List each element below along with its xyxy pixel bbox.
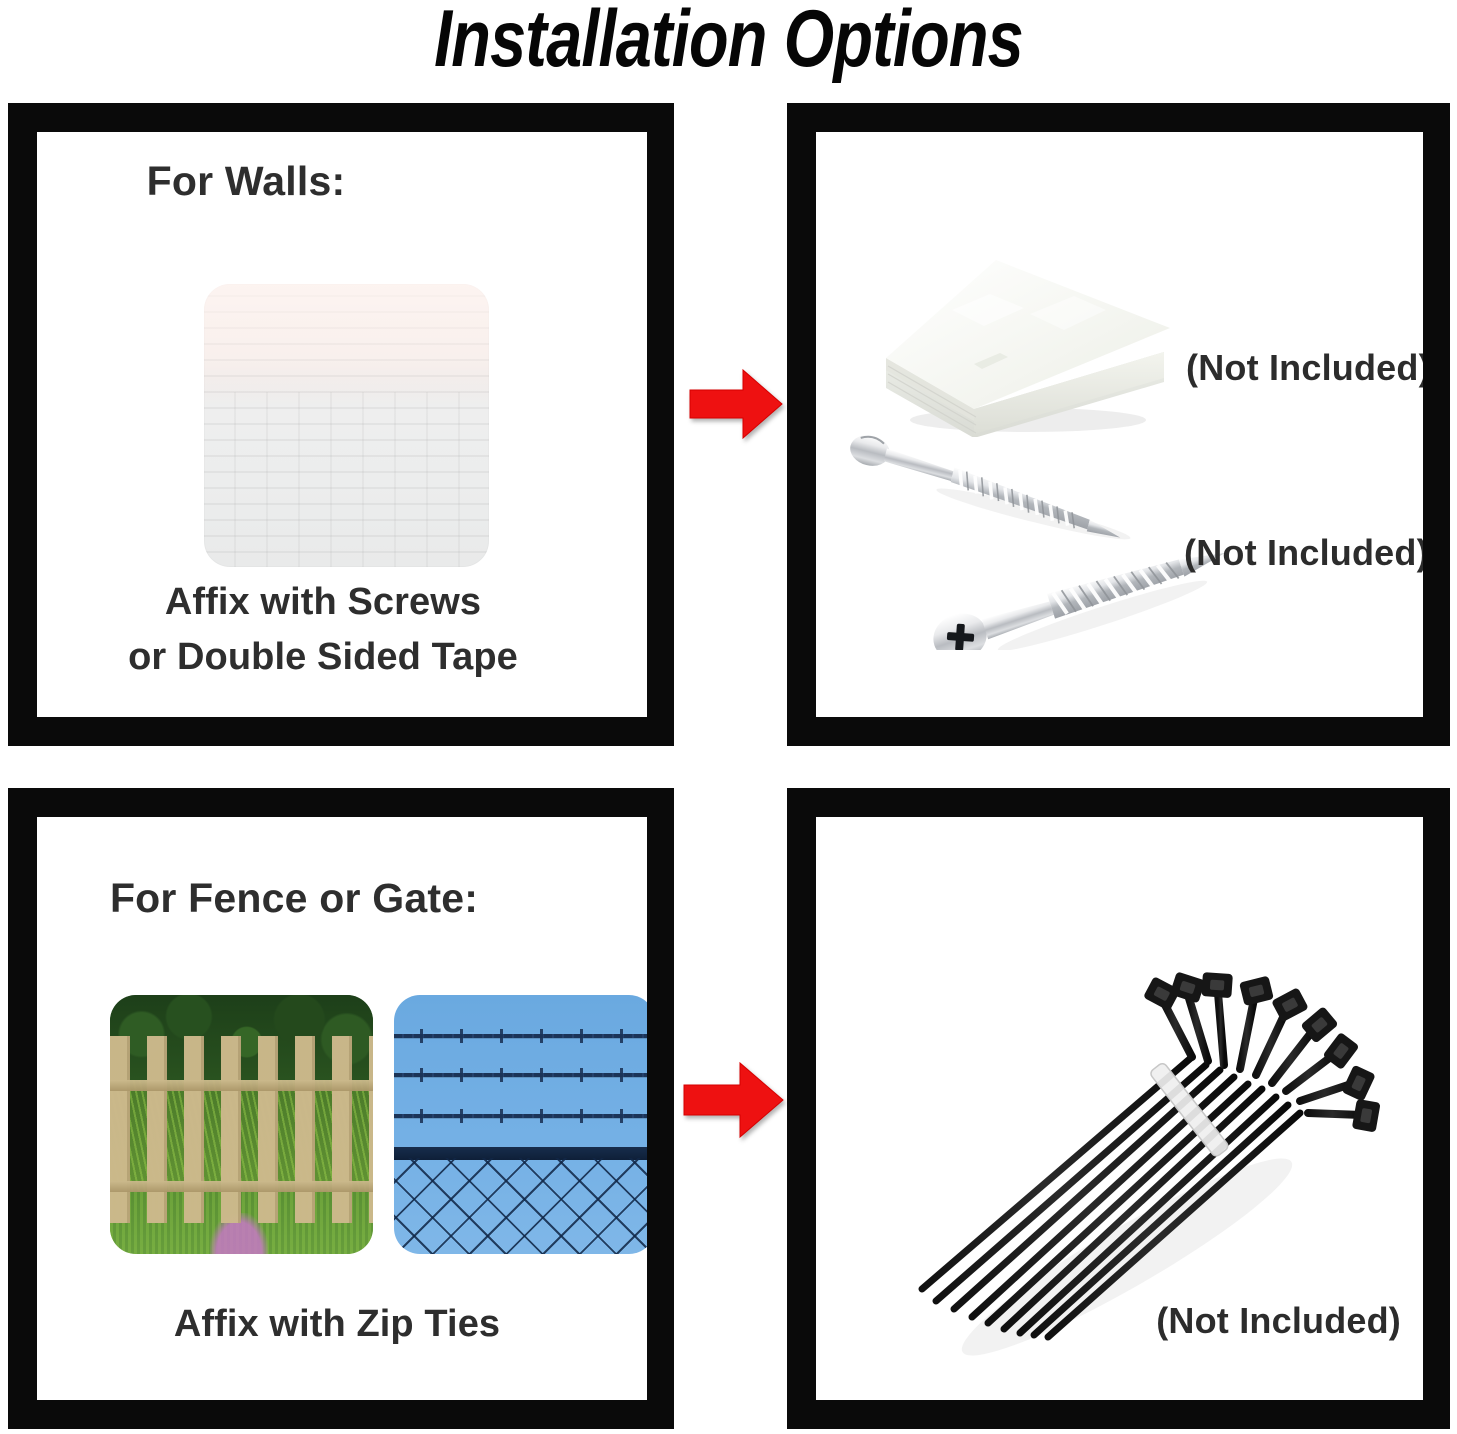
panel-for-walls-inner: For Walls: Affix with Screws or Double S…	[37, 132, 647, 717]
heading-for-walls: For Walls:	[37, 158, 647, 205]
screws-not-included-label: (Not Included)	[1184, 532, 1423, 574]
installation-options-infographic: Installation Options For Walls: Affix wi…	[0, 0, 1457, 1434]
barbed-wire-2	[394, 1073, 647, 1077]
chain-link-mesh	[394, 1158, 647, 1254]
panel-wall-hardware-inner: (Not Included)	[816, 132, 1423, 717]
chain-link-barbed-wire-thumbnail	[394, 995, 647, 1254]
fence-pickets	[110, 1036, 373, 1222]
white-brick-wall-thumbnail	[204, 284, 489, 567]
fence-rail-bottom	[110, 1181, 373, 1192]
barbed-wire-3	[394, 1114, 647, 1118]
wooden-picket-fence-thumbnail	[110, 995, 373, 1254]
right-arrow-icon	[688, 367, 784, 441]
caption-line-1: Affix with Screws	[37, 575, 609, 630]
black-zip-tie-bundle-icon	[862, 937, 1392, 1357]
caption-for-walls: Affix with Screws or Double Sided Tape	[37, 575, 647, 685]
panel-for-walls: For Walls: Affix with Screws or Double S…	[8, 103, 674, 746]
barbed-wire-1	[394, 1034, 647, 1038]
caption-line-2: or Double Sided Tape	[37, 630, 609, 685]
caption-for-fence: Affix with Zip Ties	[37, 1297, 647, 1352]
tape-not-included-label: (Not Included)	[1186, 347, 1423, 389]
panel-for-fence-inner: For Fence or Gate: Affix with Zip Ties	[37, 817, 647, 1400]
right-arrow-icon	[682, 1060, 786, 1140]
panel-fence-hardware-inner: (Not Included)	[816, 817, 1423, 1400]
fence-rail-top	[110, 1080, 373, 1091]
panel-wall-hardware: (Not Included)	[787, 103, 1450, 746]
double-sided-tape-stack-icon	[878, 252, 1178, 437]
panel-fence-hardware: (Not Included)	[787, 788, 1450, 1429]
zip-ties-not-included-label: (Not Included)	[1156, 1300, 1401, 1342]
brick-highlight-overlay	[204, 284, 489, 567]
panel-for-fence-or-gate: For Fence or Gate: Affix with Zip Ties	[8, 788, 674, 1429]
page-title: Installation Options	[146, 0, 1312, 85]
heading-for-fence-or-gate: For Fence or Gate:	[37, 875, 647, 922]
